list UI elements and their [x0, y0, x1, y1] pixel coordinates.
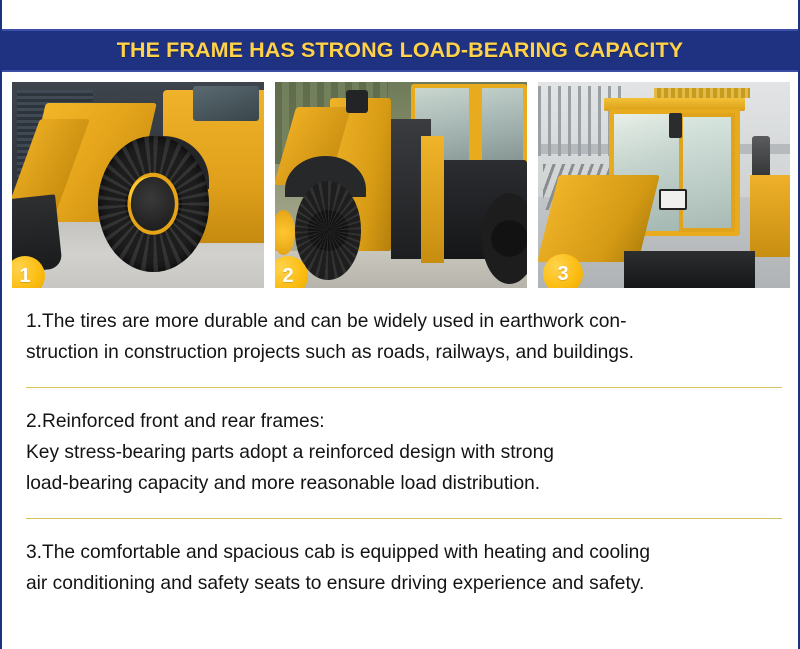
header-banner: THE FRAME HAS STRONG LOAD-BEARING CAPACI… — [2, 29, 798, 72]
section-divider-2 — [26, 518, 782, 519]
gallery-image-2[interactable]: 2 — [275, 82, 527, 288]
paragraph-3-line-1: 3.The comfortable and spacious cab is eq… — [26, 537, 782, 568]
reinforced-frame-chassis-illustration — [275, 82, 527, 288]
paragraph-2-line-1: 2.Reinforced front and rear frames: — [26, 406, 782, 437]
wheel-loader-front-tire-illustration — [12, 82, 264, 288]
paragraph-3-line-2: air conditioning and safety seats to ens… — [26, 568, 782, 599]
paragraph-1-line-1: 1.The tires are more durable and can be … — [26, 306, 782, 337]
paragraph-3: 3.The comfortable and spacious cab is eq… — [26, 537, 782, 599]
paragraph-2-line-3: load-bearing capacity and more reasonabl… — [26, 468, 782, 499]
image-badge-3: 3 — [543, 254, 583, 288]
page-title: THE FRAME HAS STRONG LOAD-BEARING CAPACI… — [117, 38, 683, 63]
paragraph-2: 2.Reinforced front and rear frames: Key … — [26, 406, 782, 499]
feature-description: 1.The tires are more durable and can be … — [26, 306, 782, 599]
paragraph-1-line-2: struction in construction projects such … — [26, 337, 782, 368]
gallery-image-3[interactable]: 3 — [538, 82, 790, 288]
product-feature-card: THE FRAME HAS STRONG LOAD-BEARING CAPACI… — [0, 0, 800, 649]
gallery-image-1[interactable]: 1 — [12, 82, 264, 288]
paragraph-1: 1.The tires are more durable and can be … — [26, 306, 782, 368]
photo-gallery: 1 2 — [12, 82, 790, 288]
paragraph-2-line-2: Key stress-bearing parts adopt a reinfor… — [26, 437, 782, 468]
operator-cab-closeup-illustration — [538, 82, 790, 288]
section-divider-1 — [26, 387, 782, 388]
